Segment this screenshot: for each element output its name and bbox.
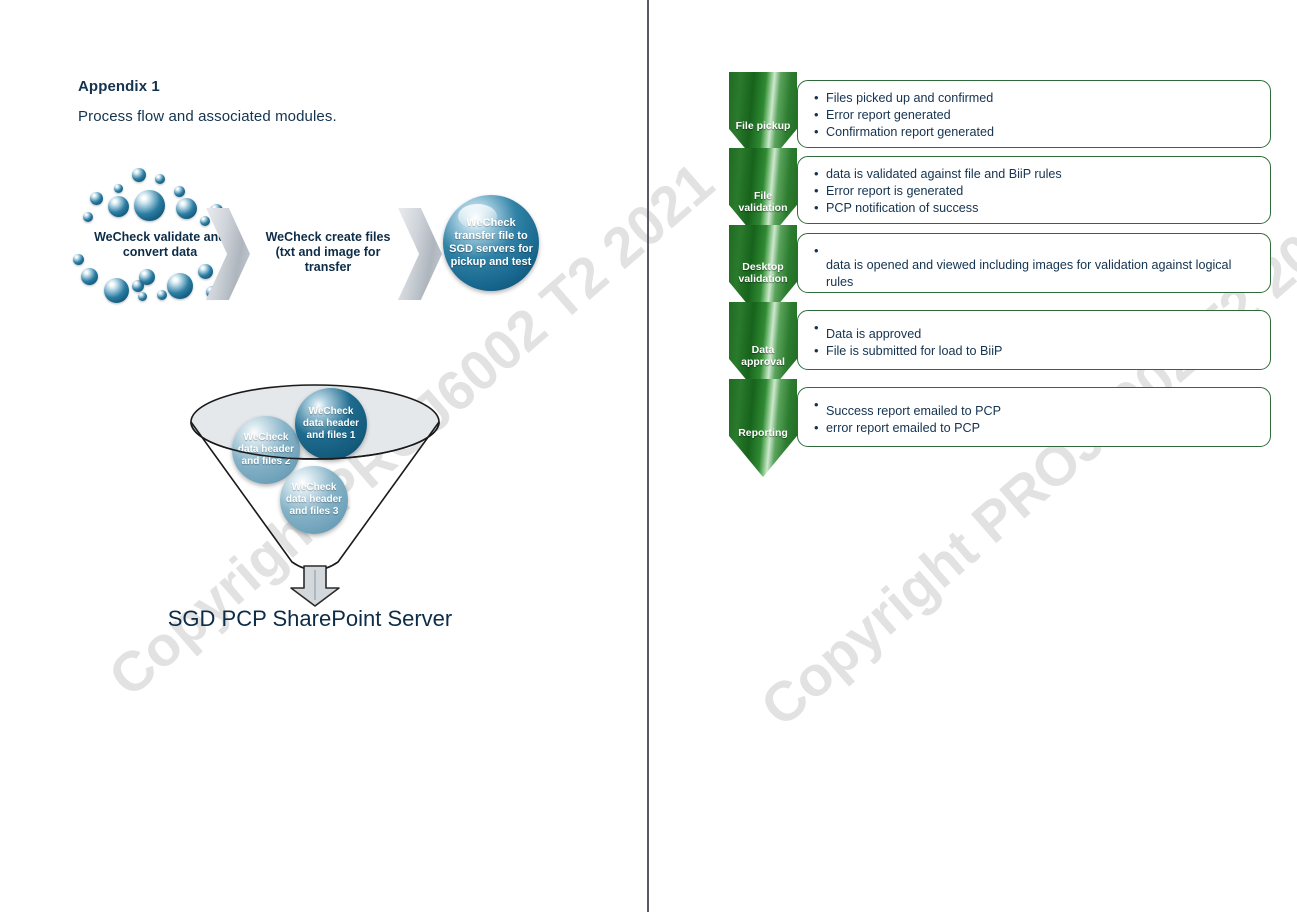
funnel-down-arrow-icon (287, 564, 343, 608)
process-bullet: Data is approved (826, 320, 1260, 343)
process-detail-box: Success report emailed to PCP error repo… (797, 387, 1271, 447)
process-bullet: Confirmation report generated (826, 124, 1260, 141)
funnel-sphere-3: WeCheck data header and files 3 (280, 466, 348, 534)
funnel-sphere-3-label: WeCheck data header and files 3 (280, 482, 348, 518)
bubble-decorative (108, 196, 129, 217)
process-step-name: Desktop validation (729, 261, 797, 285)
flow-step-3-sphere: WeCheck transfer file to SGD servers for… (443, 195, 539, 291)
bubble-decorative (157, 290, 167, 300)
process-step-name: Reporting (729, 427, 797, 439)
appendix-subtitle: Process flow and associated modules. (78, 108, 337, 125)
flow-chevron-1-icon (206, 208, 250, 300)
flow-chevron-2-icon (398, 208, 442, 300)
process-bullet: Error report is generated (826, 183, 1260, 200)
bubble-decorative (104, 278, 129, 303)
bubble-decorative (132, 168, 146, 182)
funnel-sphere-2-label: WeCheck data header and files 2 (232, 432, 300, 468)
bubble-decorative (167, 273, 193, 299)
process-step-name: Data approval (729, 344, 797, 368)
funnel-group: WeCheck data header and files 2 WeCheck … (180, 380, 450, 595)
bubble-decorative (174, 186, 185, 197)
sharepoint-server-label: SGD PCP SharePoint Server (130, 606, 490, 632)
funnel-sphere-2: WeCheck data header and files 2 (232, 416, 300, 484)
bubble-decorative (81, 268, 98, 285)
flow-step-2-label: WeCheck create files (txt and image for … (258, 230, 398, 275)
process-bullet: PCP notification of success (826, 200, 1260, 217)
process-detail-box: data is validated against file and BiiP … (797, 156, 1271, 224)
process-detail-box: Files picked up and confirmed Error repo… (797, 80, 1271, 148)
bubble-decorative (90, 192, 103, 205)
appendix-title: Appendix 1 (78, 78, 160, 95)
page-divider (647, 0, 649, 912)
process-bullet: Files picked up and confirmed (826, 90, 1260, 107)
process-bullet: Error report generated (826, 107, 1260, 124)
bubble-decorative (138, 292, 147, 301)
process-bullet: data is validated against file and BiiP … (826, 166, 1260, 183)
process-bullet: File is submitted for load to BiiP (826, 343, 1260, 360)
flow-step-3-label: WeCheck transfer file to SGD servers for… (443, 217, 539, 269)
process-bullet: error report emailed to PCP (826, 420, 1260, 437)
bubble-decorative (134, 190, 165, 221)
process-step-name: File pickup (729, 120, 797, 132)
process-step-name: File validation (729, 190, 797, 214)
bubble-decorative (139, 269, 155, 285)
funnel-sphere-1: WeCheck data header and files 1 (295, 388, 367, 460)
bubble-decorative (114, 184, 123, 193)
bubble-decorative (176, 198, 197, 219)
process-chevron-icon: Reporting (729, 379, 797, 477)
process-detail-box: Data is approved File is submitted for l… (797, 310, 1271, 370)
bubble-decorative (155, 174, 165, 184)
funnel-sphere-1-label: WeCheck data header and files 1 (295, 406, 367, 442)
process-bullet: Success report emailed to PCP (826, 397, 1260, 420)
process-detail-box: data is opened and viewed including imag… (797, 233, 1271, 293)
bubble-decorative (83, 212, 93, 222)
process-bullet: data is opened and viewed including imag… (826, 243, 1260, 291)
